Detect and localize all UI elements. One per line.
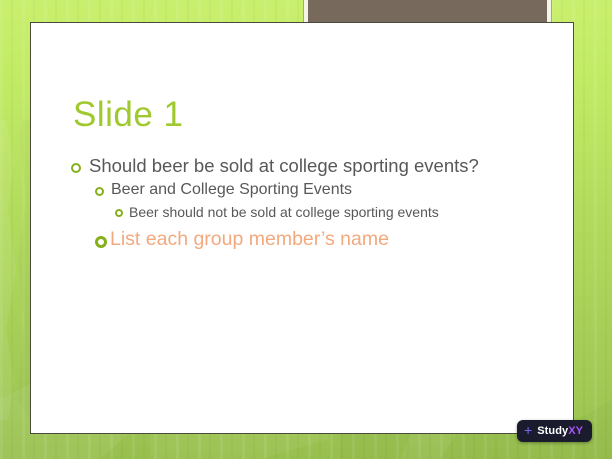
list-item: Should beer be sold at college sporting … xyxy=(71,155,541,177)
plus-icon: + xyxy=(524,423,532,437)
list-item-label: Should beer be sold at college sporting … xyxy=(89,155,479,177)
list-item-label: Beer and College Sporting Events xyxy=(111,180,352,200)
list-item-label: Beer should not be sold at college sport… xyxy=(129,203,439,221)
ring-bullet-icon xyxy=(71,163,81,173)
watermark-label: StudyXY xyxy=(537,425,583,437)
list-item-label: List each group member’s name xyxy=(110,227,389,251)
slide-content-area: Slide 1 Should beer be sold at college s… xyxy=(30,22,574,434)
background-organic-shapes-left xyxy=(0,120,32,420)
bullet-list: Should beer be sold at college sporting … xyxy=(71,155,541,251)
ring-bullet-icon xyxy=(95,187,104,196)
list-item: Beer should not be sold at college sport… xyxy=(115,203,541,221)
list-item-highlighted: List each group member’s name xyxy=(95,227,541,251)
presentation-slide: Slide 1 Should beer be sold at college s… xyxy=(0,0,612,459)
watermark-label-accent: XY xyxy=(568,425,583,437)
page-title: Slide 1 xyxy=(73,95,184,135)
list-item: Beer and College Sporting Events xyxy=(95,180,541,200)
ring-bullet-icon xyxy=(95,236,107,248)
studyxy-watermark-badge[interactable]: + StudyXY xyxy=(517,420,592,442)
ring-bullet-icon xyxy=(115,209,123,217)
watermark-label-primary: Study xyxy=(537,425,568,437)
